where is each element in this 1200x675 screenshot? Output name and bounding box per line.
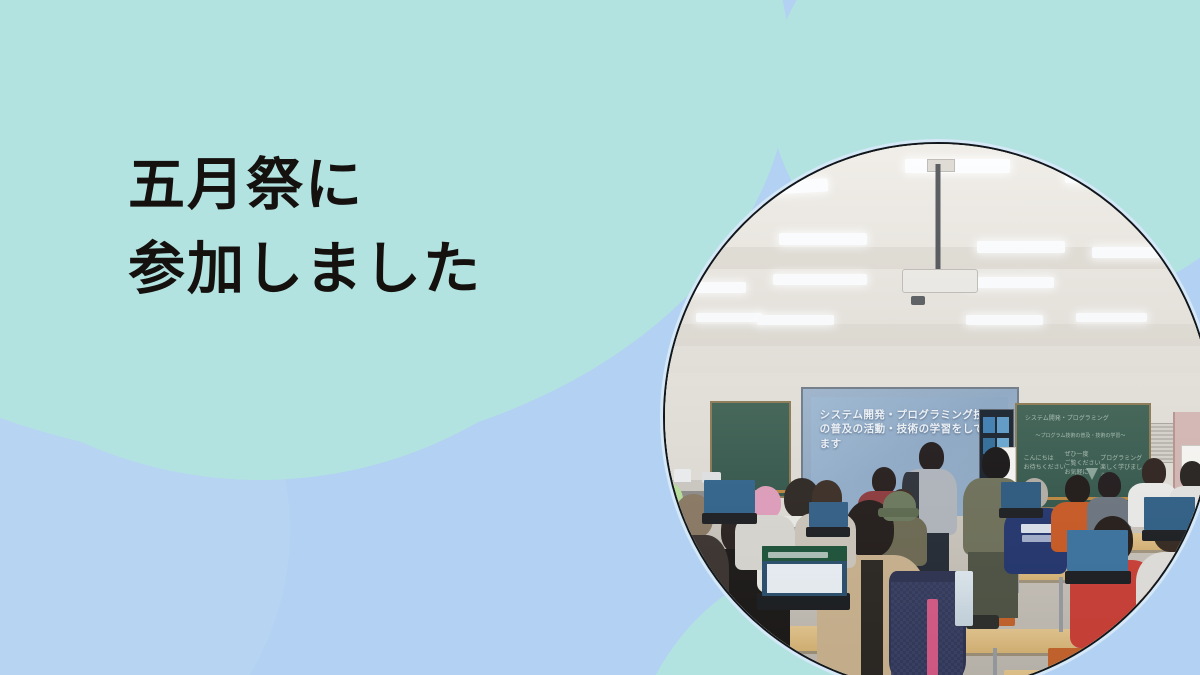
backpack-pink-strap xyxy=(927,599,938,675)
chair-back-3 xyxy=(1048,648,1098,675)
person-front-b-torso xyxy=(663,535,729,645)
person-standing-a-head xyxy=(919,442,944,472)
photo-inner-frame: システム開発・プログラミング技術の普及の活動・技術の学習をしています システム開… xyxy=(663,142,1200,675)
ceiling-light-5 xyxy=(977,241,1065,253)
water-bottle xyxy=(955,571,974,626)
classroom-scene: システム開発・プログラミング技術の普及の活動・技術の学習をしています システム開… xyxy=(663,142,1200,675)
projector-body xyxy=(902,269,978,293)
blackboard-note-left: こんにちは お待ちください xyxy=(1024,454,1066,472)
page-title: 五月祭に 参加しました xyxy=(128,143,588,311)
laptop-page-title xyxy=(768,552,829,559)
blackboard-arrow xyxy=(1086,468,1098,480)
tshirt-tagline xyxy=(1022,535,1055,542)
laptop-row2-base xyxy=(806,527,850,537)
laptop-left-screen xyxy=(704,480,755,513)
person-seated-i-head xyxy=(1180,461,1200,489)
ceiling-light-6 xyxy=(1092,247,1175,259)
classroom-photo: システム開発・プログラミング技術の普及の活動・技術の学習をしています システム開… xyxy=(663,142,1200,675)
laptop-row2-screen xyxy=(809,502,849,527)
person-seated-g-head xyxy=(1098,472,1121,498)
ceiling-light-13 xyxy=(1076,313,1148,322)
blackboard-sub: ～プログラム技術の普及・技術の学習～ xyxy=(1035,432,1125,441)
bottle-1 xyxy=(674,469,691,482)
ceiling-beam-2 xyxy=(663,324,1200,346)
ceiling-light-12 xyxy=(966,315,1043,324)
ceiling-light-11 xyxy=(757,315,834,324)
projector-lens xyxy=(911,296,925,305)
cap-brim xyxy=(878,508,919,517)
desk-leg-3 xyxy=(993,648,997,675)
blackboard-heading: システム開発・プログラミング xyxy=(1025,414,1109,423)
ceiling-light-9 xyxy=(966,277,1054,288)
backpack-strap xyxy=(861,560,883,675)
tshirt-brand: MISUMI xyxy=(1021,524,1054,533)
laptop-right-screen xyxy=(1067,530,1128,571)
person-front-h-torso xyxy=(1136,552,1200,651)
ceiling-light-7 xyxy=(663,282,746,293)
projector-mount xyxy=(927,159,955,172)
slide-canvas: 五月祭に 参加しました xyxy=(0,0,1200,675)
laptop-left-base xyxy=(702,513,757,524)
laptop-mid-screen xyxy=(1001,482,1041,508)
desk-leg-2 xyxy=(1059,577,1063,632)
projection-screen-text: システム開発・プログラミング技術の普及の活動・技術の学習をしています xyxy=(820,408,1004,452)
laptop-far-right-base xyxy=(1142,530,1197,541)
laptop-right-base xyxy=(1065,571,1131,584)
person-seated-c-head xyxy=(872,467,896,495)
ceiling-light-3 xyxy=(1065,170,1159,183)
title-line-2: 参加しました xyxy=(128,227,588,311)
projector-rod xyxy=(936,164,941,274)
person-seated-f-head xyxy=(1065,475,1090,504)
title-line-1: 五月祭に xyxy=(128,143,588,227)
ceiling-light-2 xyxy=(905,159,1010,173)
ceiling-light-8 xyxy=(773,274,867,285)
ceiling-light-4 xyxy=(779,233,867,245)
desk-row5-right xyxy=(1004,670,1200,675)
person-standing-b-head xyxy=(982,447,1010,479)
laptop-mid-base xyxy=(999,508,1043,518)
laptop-far-right-screen xyxy=(1144,497,1195,530)
person-seated-h-head xyxy=(1142,458,1166,486)
ceiling-light-10 xyxy=(696,313,762,322)
